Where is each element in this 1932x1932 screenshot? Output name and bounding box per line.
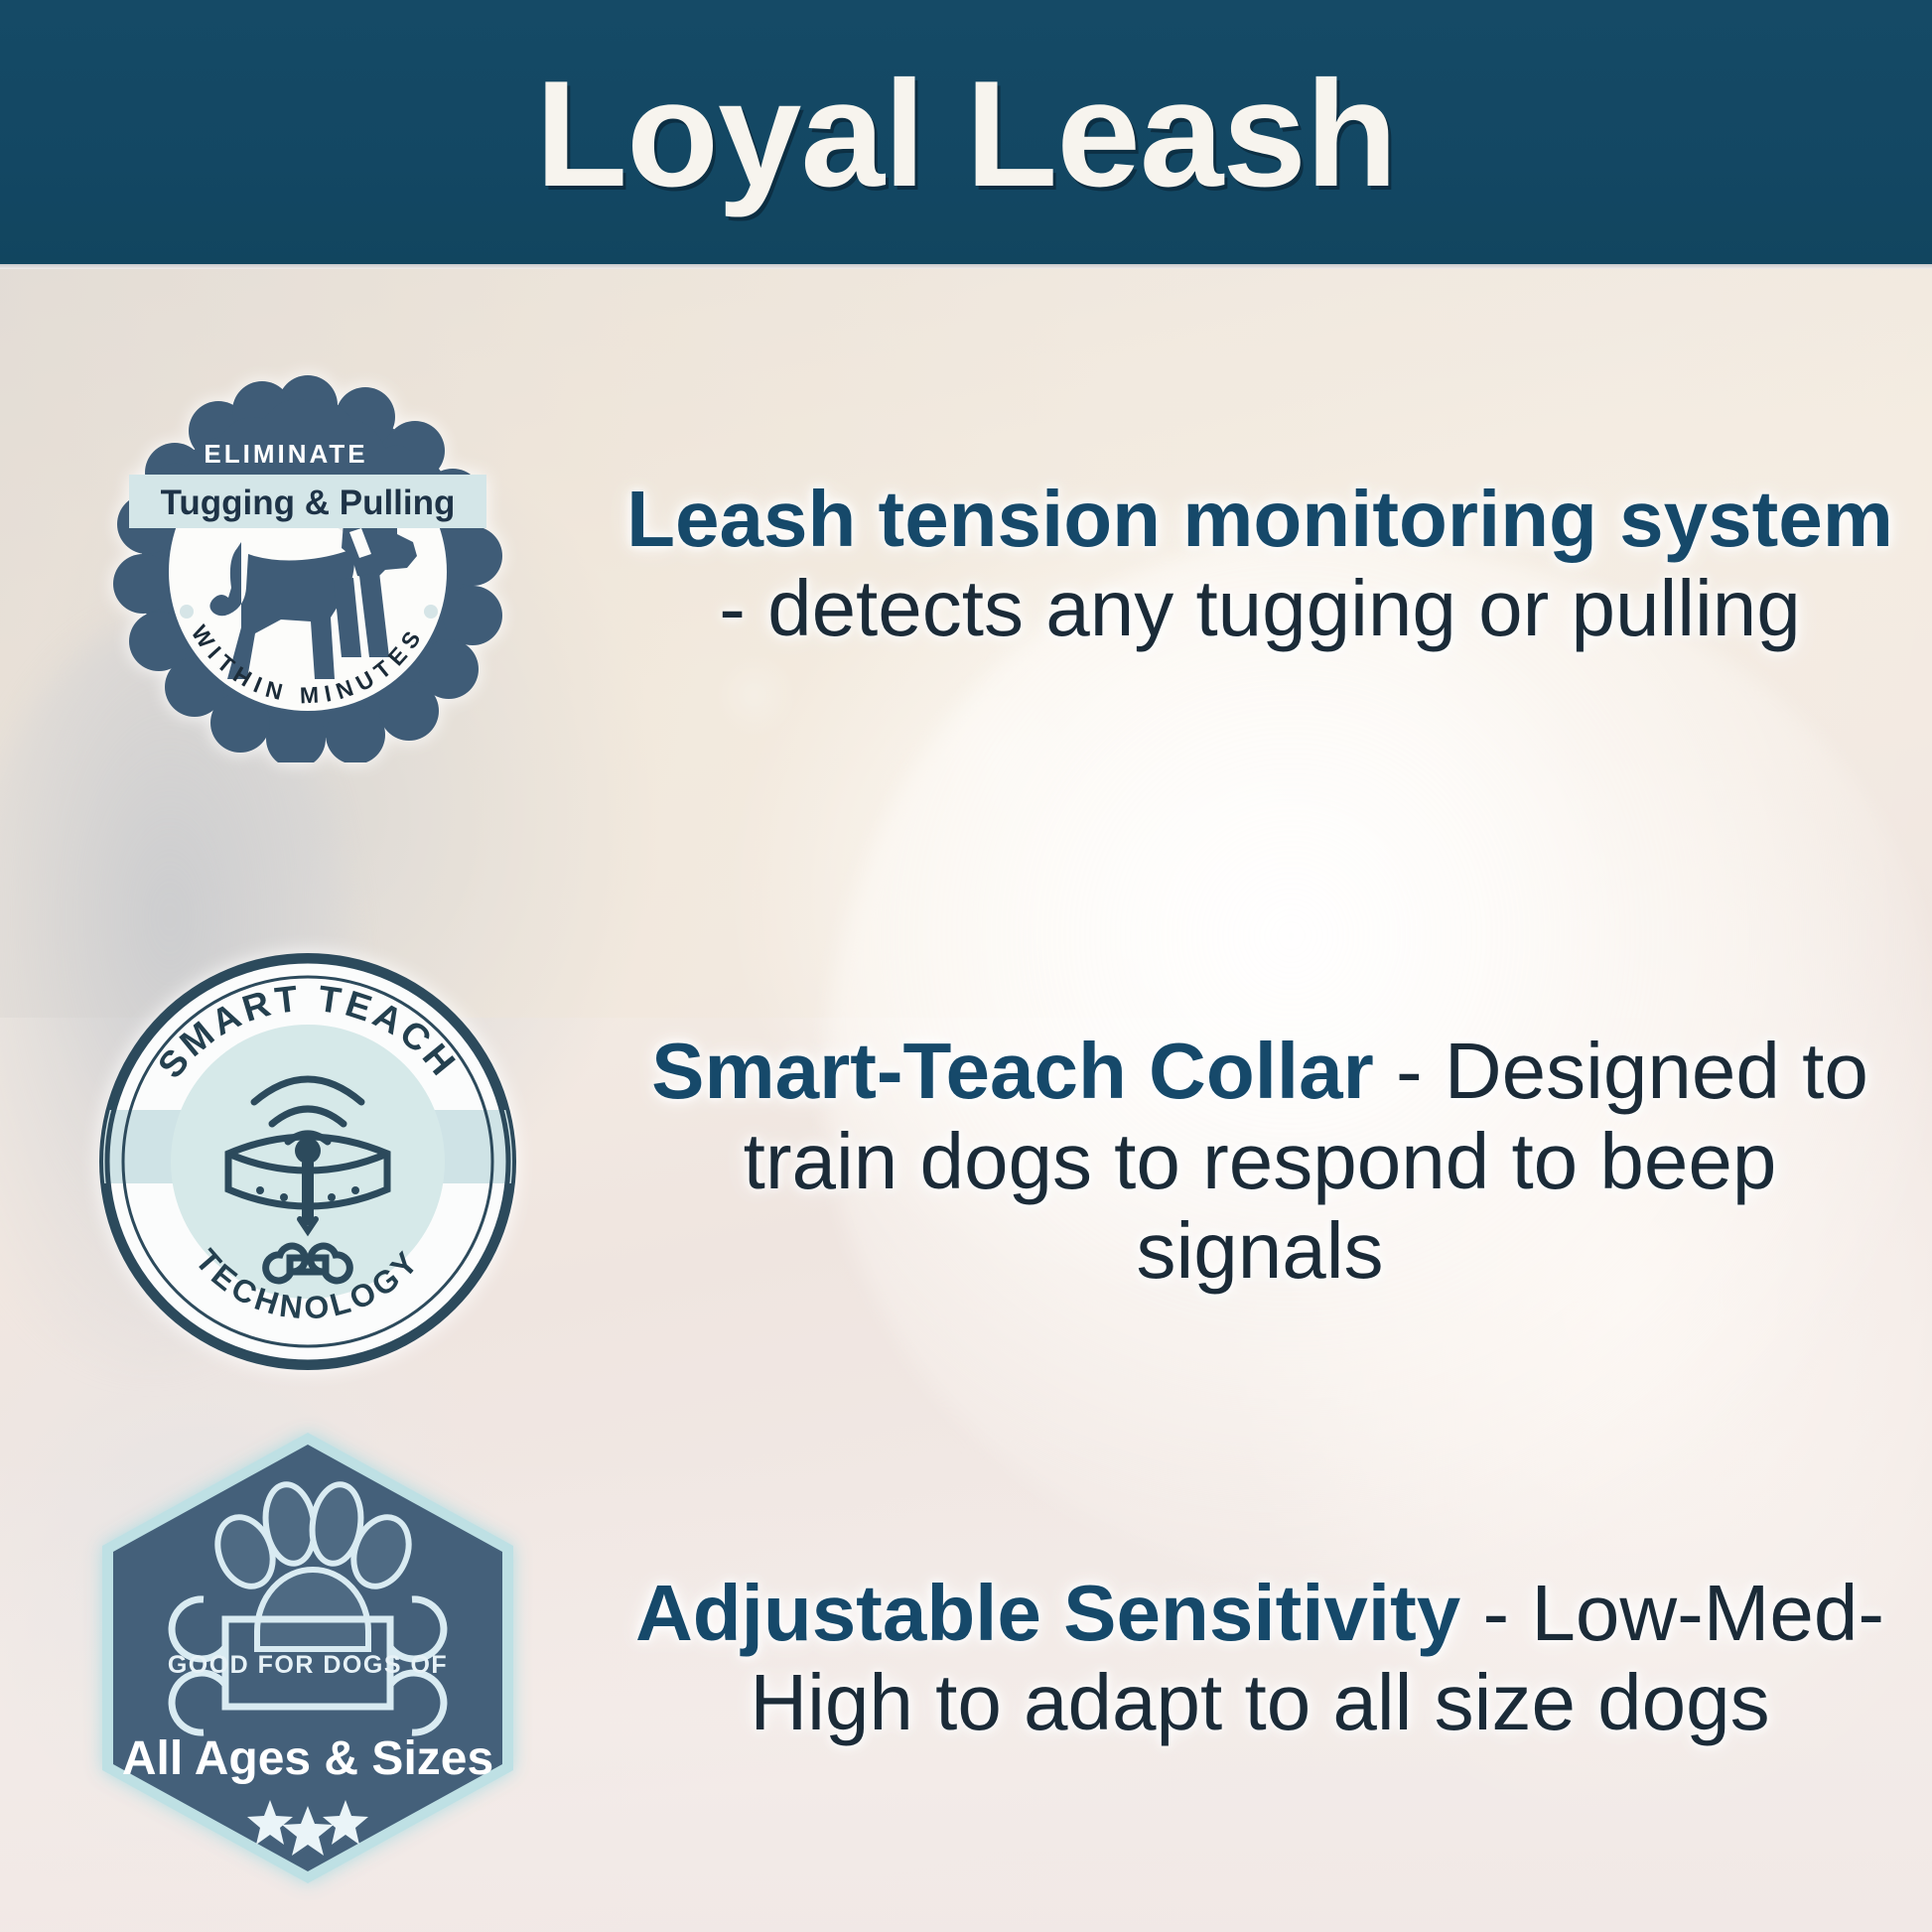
seal-top-label: ELIMINATE: [204, 439, 367, 469]
feature-row-leash-tension: WITHIN MINUTES ELIMINATE Tugging & Pulli…: [0, 286, 1932, 842]
header-banner: Loyal Leash: [0, 0, 1932, 264]
smart-teach-technology-badge: SMART TEACH TECHNOLOGY: [89, 943, 526, 1380]
feature-body: - detects any tugging or pulling: [719, 564, 1801, 652]
seal-ribbon-label: Tugging & Pulling: [161, 483, 456, 522]
eliminate-tugging-pulling-badge: WITHIN MINUTES ELIMINATE Tugging & Pulli…: [99, 365, 516, 762]
feature-text-column: Leash tension monitoring system - detect…: [616, 475, 1932, 654]
page-title: Loyal Leash: [535, 59, 1397, 209]
all-ages-and-sizes-badge: GOOD FOR DOGS OF All Ages & Sizes: [84, 1425, 531, 1891]
infographic-page: Loyal Leash: [0, 0, 1932, 1932]
badge-column: GOOD FOR DOGS OF All Ages & Sizes: [0, 1425, 616, 1891]
feature-text-column: Adjustable Sensitivity - Low-Med-High to…: [616, 1569, 1932, 1748]
badge-column: WITHIN MINUTES ELIMINATE Tugging & Pulli…: [0, 365, 616, 762]
feature-headline: Adjustable Sensitivity: [635, 1569, 1460, 1657]
feature-text-leash-tension: Leash tension monitoring system - detect…: [616, 475, 1904, 654]
badge-column: SMART TEACH TECHNOLOGY: [0, 943, 616, 1380]
header-divider: [0, 264, 1932, 269]
feature-text-adjustable-sensitivity: Adjustable Sensitivity - Low-Med-High to…: [616, 1569, 1904, 1748]
seal-ribbon: Tugging & Pulling: [129, 475, 486, 528]
bone-label: GOOD FOR DOGS OF: [168, 1651, 448, 1679]
badge-main-label: All Ages & Sizes: [122, 1732, 493, 1785]
feature-row-smart-teach: SMART TEACH TECHNOLOGY Smart-Teach Colla…: [0, 894, 1932, 1430]
feature-row-adjustable-sensitivity: GOOD FOR DOGS OF All Ages & Sizes Adjust…: [0, 1410, 1932, 1906]
feature-text-smart-teach: Smart-Teach Collar - Designed to train d…: [616, 1027, 1904, 1296]
feature-text-column: Smart-Teach Collar - Designed to train d…: [616, 1027, 1932, 1296]
feature-headline: Smart-Teach Collar: [651, 1027, 1374, 1115]
feature-headline: Leash tension monitoring system: [626, 475, 1893, 563]
